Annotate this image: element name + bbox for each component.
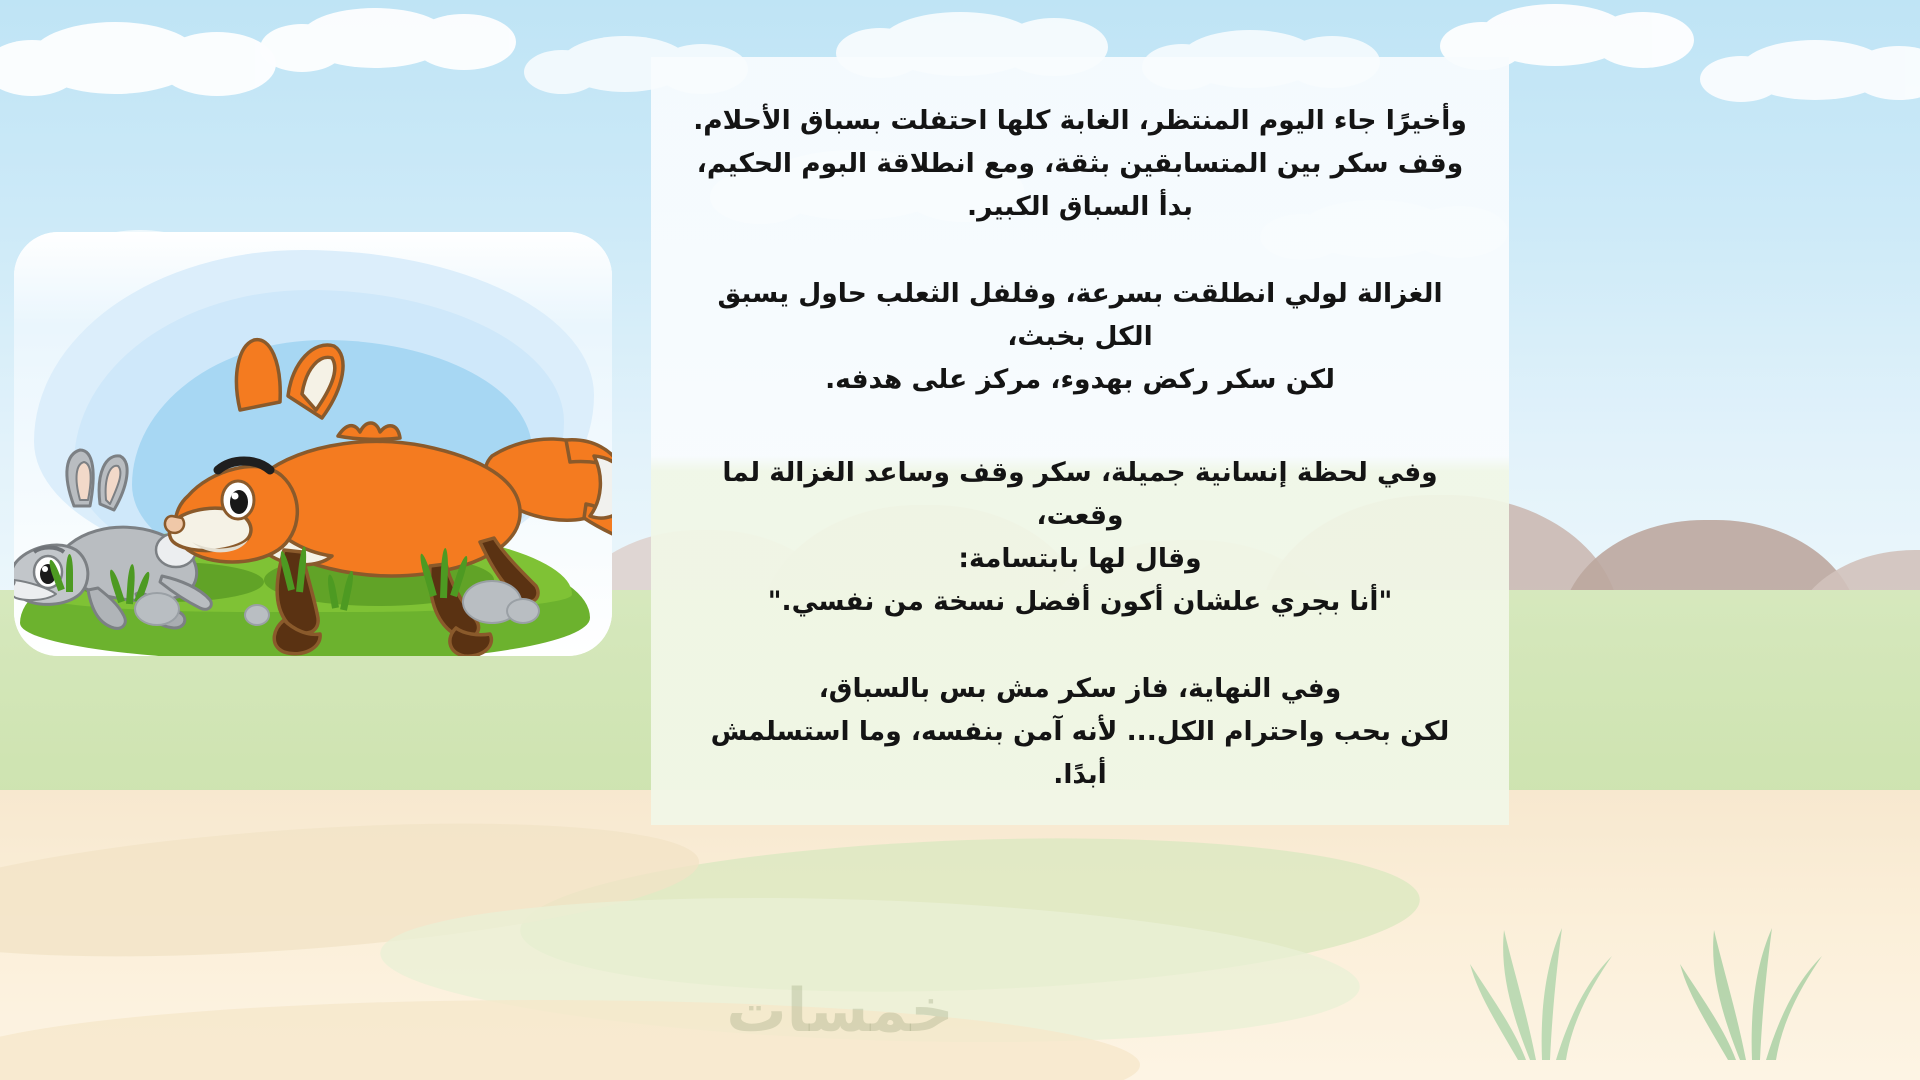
- cloud-icon: [300, 8, 450, 68]
- grass-tuft-group: [1470, 860, 1910, 1060]
- pebble: [134, 592, 180, 626]
- pebble: [506, 598, 540, 624]
- story-paragraph-2: الغزالة لولي انطلقت بسرعة، وفلفل الثعلب …: [685, 272, 1475, 401]
- story-paragraph-4: وفي النهاية، فاز سكر مش بس بالسباق، لكن …: [685, 667, 1475, 796]
- pebble: [244, 604, 270, 626]
- story-paragraph-1: وأخيرًا جاء اليوم المنتظر، الغابة كلها ا…: [685, 99, 1475, 228]
- watermark-khamsat: خمسات: [690, 972, 990, 1050]
- cloud-icon: [1740, 40, 1890, 100]
- running-fox: [162, 328, 612, 656]
- grass-blade: [66, 554, 73, 592]
- story-paragraph-3: وفي لحظة إنسانية جميلة، سكر وقف وساعد ال…: [685, 451, 1475, 623]
- story-text-panel: وأخيرًا جاء اليوم المنتظر، الغابة كلها ا…: [651, 57, 1509, 825]
- fox-and-rabbit-illustration: [14, 232, 612, 656]
- cloud-icon: [30, 22, 200, 94]
